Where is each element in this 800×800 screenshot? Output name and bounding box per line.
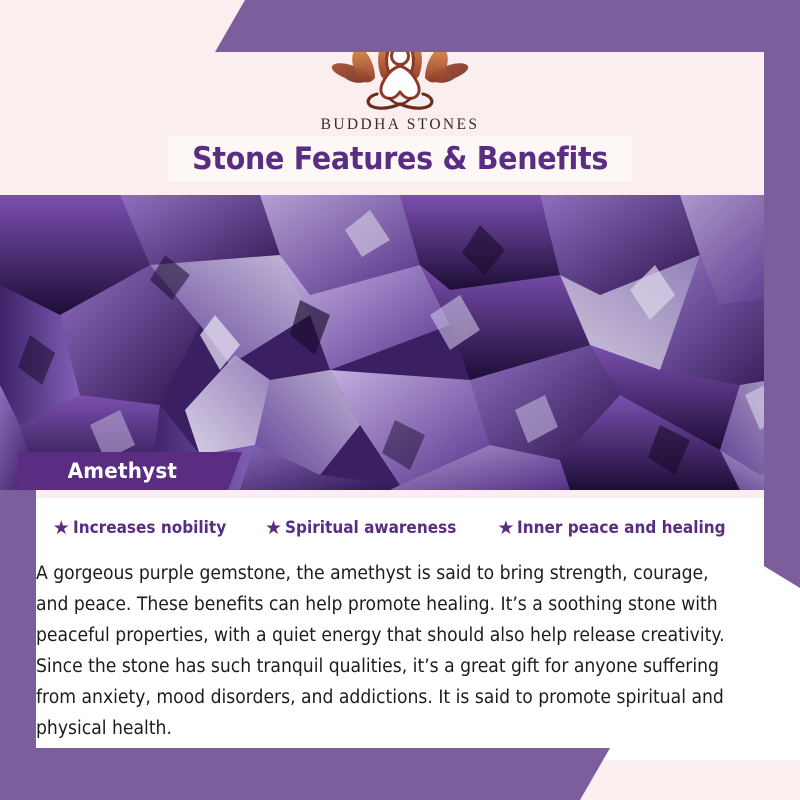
benefit-label-1: Increases nobility: [73, 518, 226, 538]
amethyst-crystal-cluster-graphic: [0, 195, 800, 490]
benefit-item-3: ★ Inner peace and healing: [497, 518, 749, 538]
decorative-band-right: [764, 0, 800, 588]
decorative-band-bottom: [0, 748, 610, 800]
stone-description: A gorgeous purple gemstone, the amethyst…: [36, 558, 739, 744]
stone-name-label: Amethyst: [22, 459, 177, 483]
benefit-label-2: Spiritual awareness: [285, 518, 456, 538]
benefit-item-2: ★ Spiritual awareness: [265, 518, 475, 538]
stone-hero-image: [0, 195, 800, 490]
benefits-list: ★ Increases nobility ★ Spiritual awarene…: [36, 518, 766, 538]
page-title-bar: Stone Features & Benefits: [168, 136, 632, 182]
star-icon: ★: [497, 519, 514, 538]
star-icon: ★: [265, 519, 282, 538]
decorative-band-left: [0, 490, 36, 772]
page-title: Stone Features & Benefits: [192, 141, 608, 177]
stone-name-badge: Amethyst: [18, 452, 242, 490]
brand-name: BUDDHA STONES: [0, 116, 800, 134]
product-feature-poster: BUDDHA STONES Stone Features & Benefits: [0, 0, 800, 800]
decorative-band-top: [215, 0, 800, 52]
star-icon: ★: [53, 519, 70, 538]
benefit-label-3: Inner peace and healing: [517, 518, 726, 538]
content-card: ★ Increases nobility ★ Spiritual awarene…: [36, 498, 800, 760]
benefit-item-1: ★ Increases nobility: [53, 518, 243, 538]
